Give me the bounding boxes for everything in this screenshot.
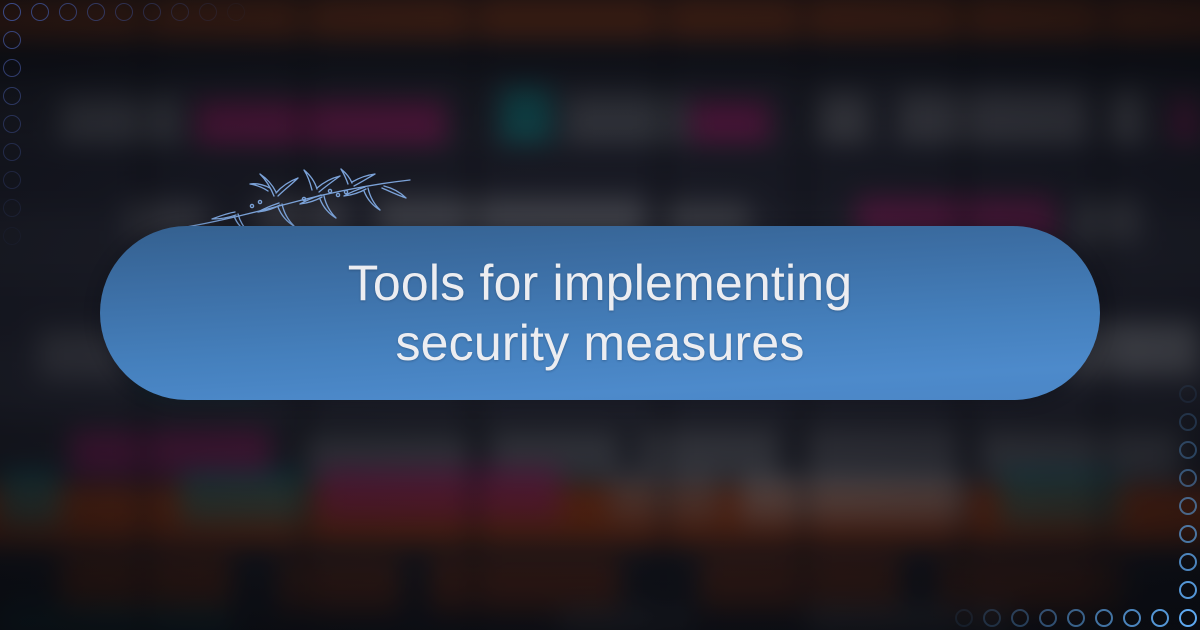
decorative-dot — [1095, 609, 1113, 627]
decorative-dot — [1179, 413, 1197, 431]
decorative-dot — [1123, 609, 1141, 627]
decorative-dot — [1179, 469, 1197, 487]
decorative-dot — [1067, 609, 1085, 627]
decorative-dot — [983, 609, 1001, 627]
social-share-card: Tools for implementing security measures — [0, 0, 1200, 630]
decorative-dot — [1179, 385, 1197, 403]
decorative-dot — [1179, 497, 1197, 515]
decorative-dot — [1039, 609, 1057, 627]
decorative-dot — [1179, 553, 1197, 571]
decorative-dot — [1179, 581, 1197, 599]
title-pill: Tools for implementing security measures — [100, 226, 1100, 400]
page-title: Tools for implementing security measures — [160, 253, 1040, 374]
decorative-dot — [1179, 525, 1197, 543]
decorative-dot — [1151, 609, 1169, 627]
decorative-dot — [1011, 609, 1029, 627]
decorative-dot — [1179, 441, 1197, 459]
decorative-dot — [955, 609, 973, 627]
decorative-dot — [1179, 609, 1197, 627]
